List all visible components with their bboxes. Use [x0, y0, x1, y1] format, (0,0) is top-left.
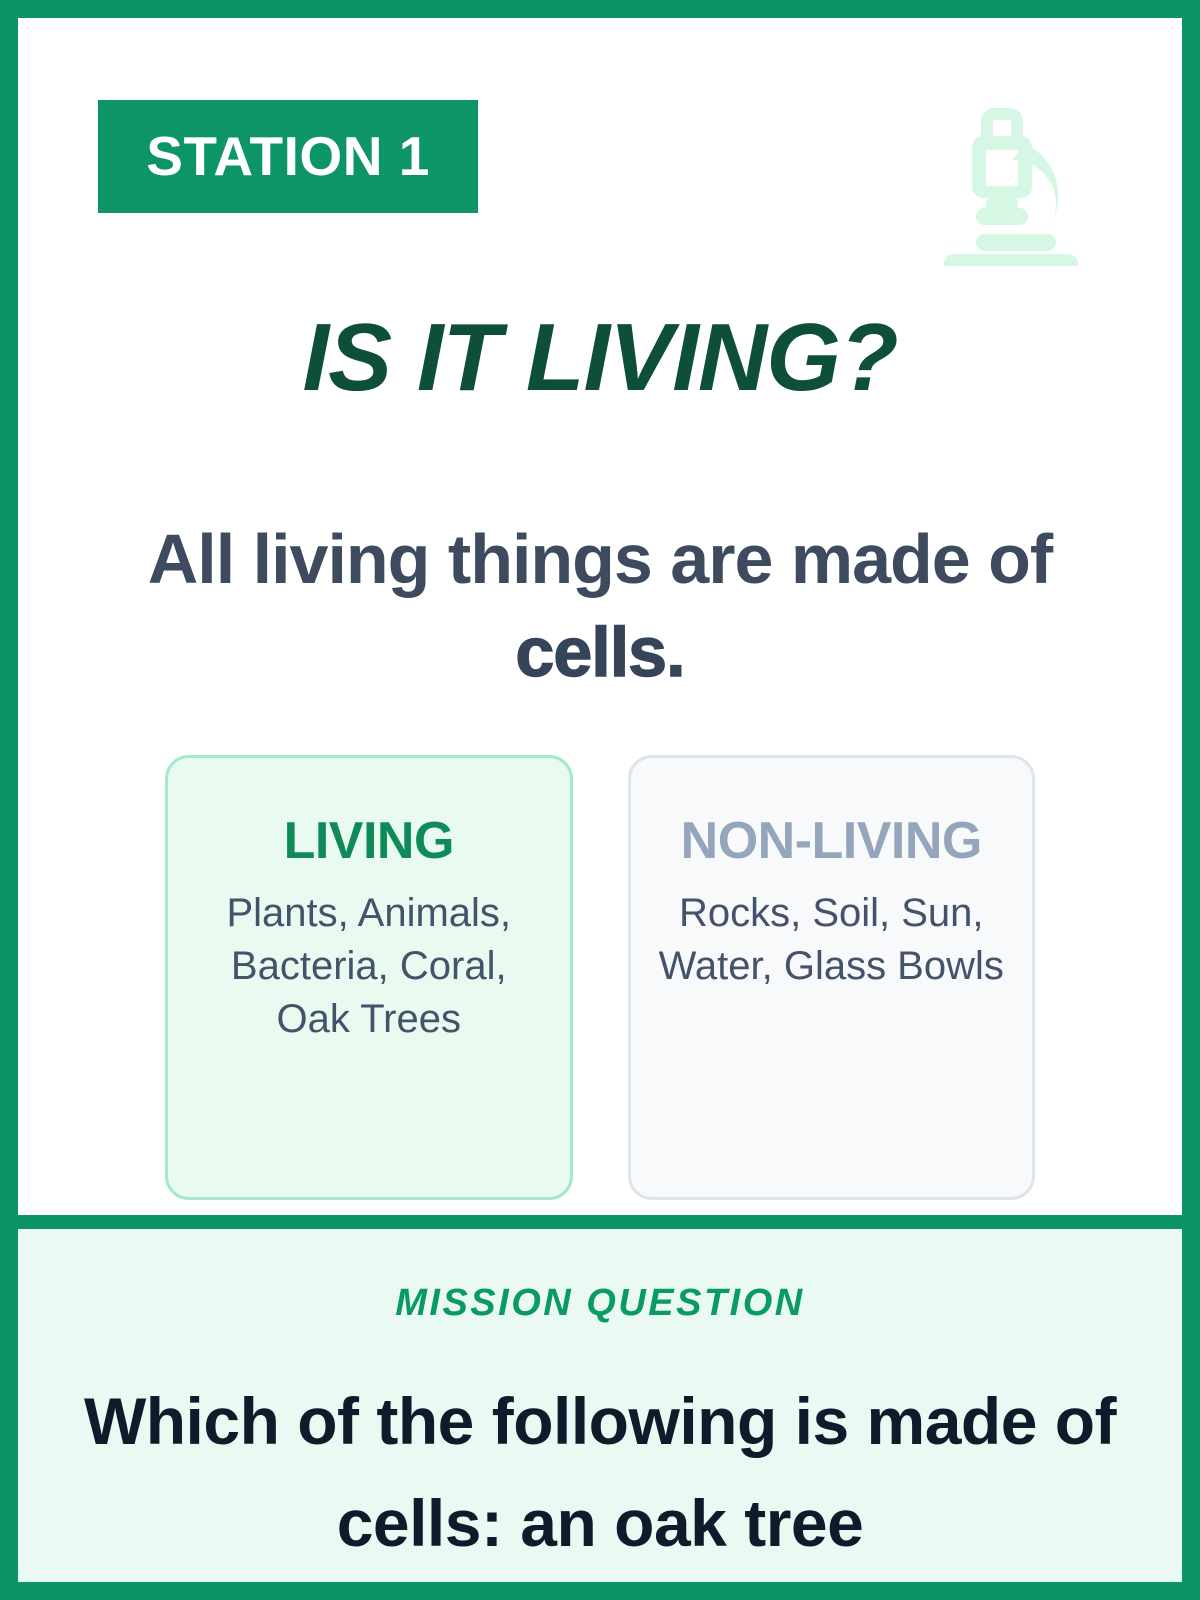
section-divider [18, 1215, 1182, 1229]
station-card: STATION 1 IS IT LIVING? All living t [0, 0, 1200, 1600]
station-badge-label: STATION 1 [146, 129, 430, 184]
microscope-icon [934, 106, 1084, 266]
mission-question-text: Which of the following is made of cells:… [78, 1370, 1122, 1575]
category-items-non-living: Rocks, Soil, Sun, Water, Glass Bowls [649, 887, 1015, 993]
station-badge: STATION 1 [98, 100, 478, 213]
mission-label: MISSION QUESTION [78, 1284, 1122, 1322]
category-card-non-living: NON-LIVING Rocks, Soil, Sun, Water, Glas… [628, 755, 1036, 1200]
page-title: IS IT LIVING? [18, 308, 1182, 409]
subheadline-emphasis: cells. [515, 613, 684, 691]
category-card-living: LIVING Plants, Animals, Bacteria, Coral,… [165, 755, 573, 1200]
category-title-living: LIVING [186, 814, 552, 869]
category-title-non-living: NON-LIVING [649, 814, 1015, 869]
card-top-panel: STATION 1 IS IT LIVING? All living t [18, 18, 1182, 1215]
category-card-row: LIVING Plants, Animals, Bacteria, Coral,… [165, 755, 1035, 1200]
subheadline: All living things are made of cells. [118, 513, 1082, 699]
subheadline-lead: All living things are made of [148, 520, 1052, 598]
category-items-living: Plants, Animals, Bacteria, Coral, Oak Tr… [186, 887, 552, 1047]
mission-panel: MISSION QUESTION Which of the following … [18, 1229, 1182, 1582]
